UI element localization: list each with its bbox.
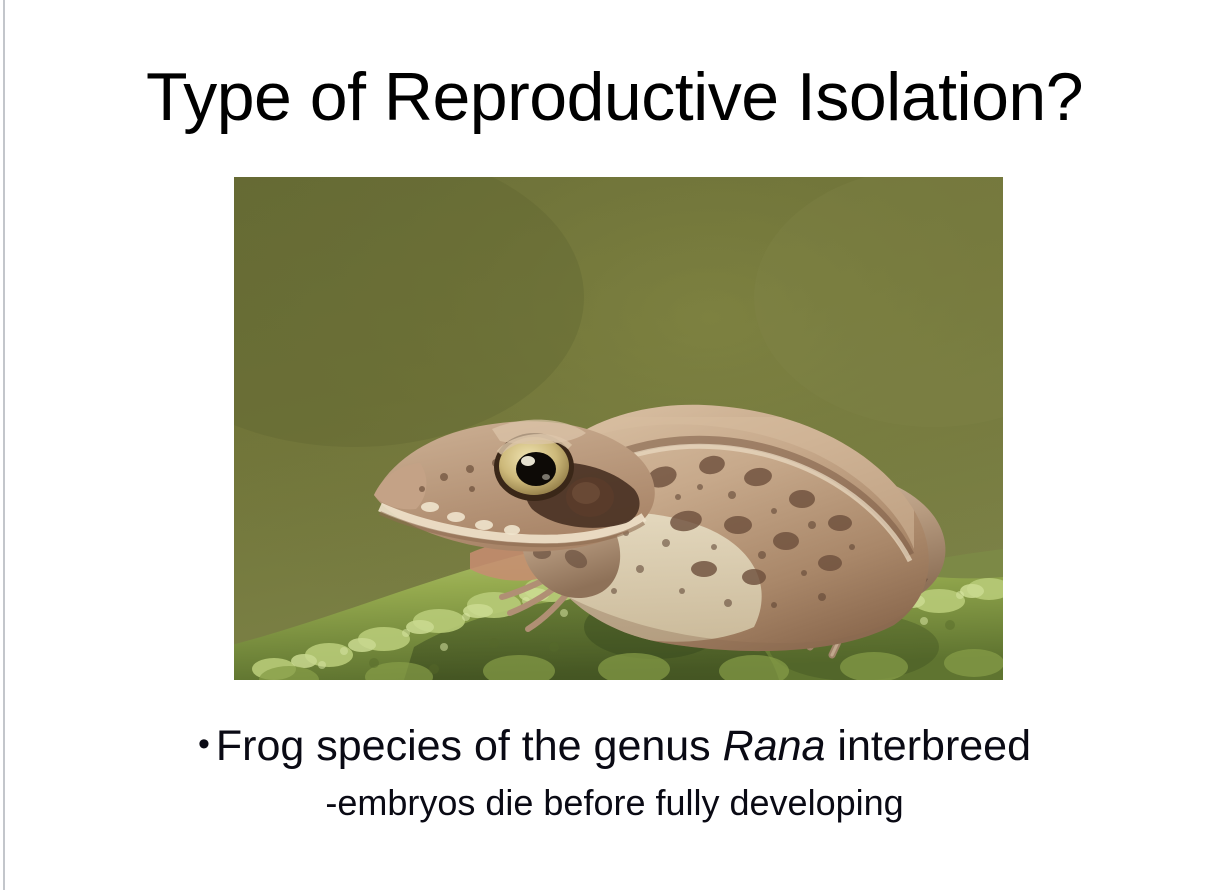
bullet-text-before: Frog species of the genus bbox=[216, 722, 723, 770]
page-title: Type of Reproductive Isolation? bbox=[0, 63, 1229, 131]
bullet-text-after: interbreed bbox=[825, 722, 1031, 770]
slide-body: •Frog species of the genus Rana interbre… bbox=[0, 722, 1229, 824]
frog-photo-illustration bbox=[234, 177, 1003, 680]
genus-name-rana: Rana bbox=[723, 722, 826, 770]
bullet-item-primary: •Frog species of the genus Rana interbre… bbox=[0, 722, 1229, 771]
slide-canvas: Type of Reproductive Isolation? bbox=[0, 0, 1229, 890]
frog-on-moss-photo bbox=[234, 177, 1003, 680]
bullet-item-sub: -embryos die before fully developing bbox=[0, 782, 1229, 823]
bullet-point-icon: • bbox=[198, 725, 216, 763]
